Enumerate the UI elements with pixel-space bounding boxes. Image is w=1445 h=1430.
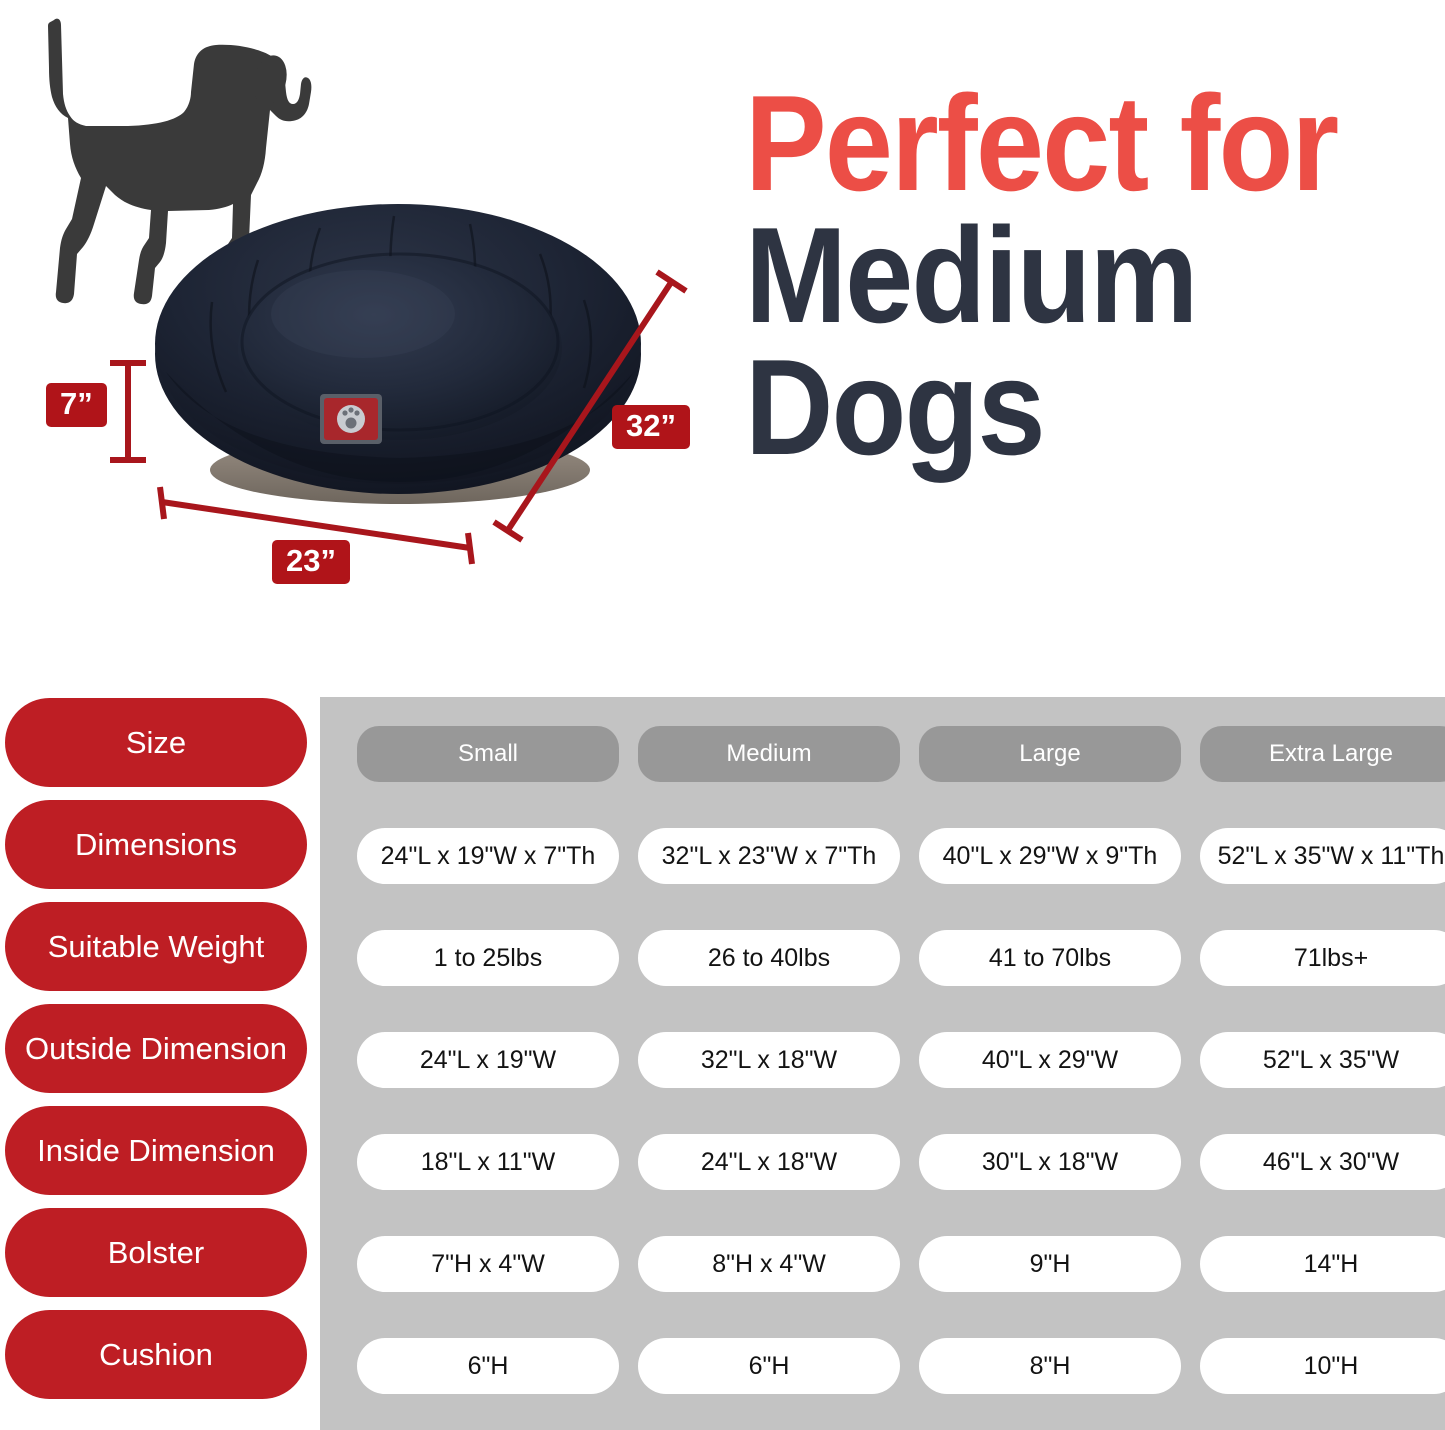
cell-suitable-weight-extra-large: 71lbs+ — [1200, 930, 1445, 986]
headline-line-2: Medium — [745, 210, 1375, 342]
dog-bed-photo — [148, 182, 648, 512]
cell-inside-dimension-medium: 24"L x 18"W — [638, 1134, 900, 1190]
page-title: Perfect for Medium Dogs — [745, 78, 1445, 474]
column-header-small: Small — [357, 726, 619, 782]
row-label-size: Size — [5, 698, 307, 787]
column-header-extra-large: Extra Large — [1200, 726, 1445, 782]
cell-cushion-large: 8"H — [919, 1338, 1181, 1394]
column-header-large: Large — [919, 726, 1181, 782]
cell-dimensions-extra-large: 52"L x 35"W x 11"Th — [1200, 828, 1445, 884]
row-label-bolster: Bolster — [5, 1208, 307, 1297]
cell-dimensions-large: 40"L x 29"W x 9"Th — [919, 828, 1181, 884]
cell-inside-dimension-small: 18"L x 11"W — [357, 1134, 619, 1190]
row-label-suitable-weight: Suitable Weight — [5, 902, 307, 991]
cell-outside-dimension-extra-large: 52"L x 35"W — [1200, 1032, 1445, 1088]
specification-table: SizeDimensionsSuitable WeightOutside Dim… — [0, 690, 1445, 1430]
hero-section: 7” 32” 23” Perfect for Medium Dogs — [0, 0, 1445, 690]
headline-line-1: Perfect for — [745, 78, 1375, 210]
cell-suitable-weight-small: 1 to 25lbs — [357, 930, 619, 986]
cell-suitable-weight-large: 41 to 70lbs — [919, 930, 1181, 986]
cell-cushion-small: 6"H — [357, 1338, 619, 1394]
cell-outside-dimension-medium: 32"L x 18"W — [638, 1032, 900, 1088]
row-label-outside-dimension: Outside Dimension — [5, 1004, 307, 1093]
cell-dimensions-medium: 32"L x 23"W x 7"Th — [638, 828, 900, 884]
cell-bolster-small: 7"H x 4"W — [357, 1236, 619, 1292]
cell-suitable-weight-medium: 26 to 40lbs — [638, 930, 900, 986]
row-label-dimensions: Dimensions — [5, 800, 307, 889]
cell-cushion-extra-large: 10"H — [1200, 1338, 1445, 1394]
cell-bolster-large: 9"H — [919, 1236, 1181, 1292]
row-label-cushion: Cushion — [5, 1310, 307, 1399]
column-header-medium: Medium — [638, 726, 900, 782]
cell-outside-dimension-small: 24"L x 19"W — [357, 1032, 619, 1088]
cell-inside-dimension-large: 30"L x 18"W — [919, 1134, 1181, 1190]
callout-width: 23” — [272, 540, 350, 584]
row-label-inside-dimension: Inside Dimension — [5, 1106, 307, 1195]
callout-length: 32” — [612, 405, 690, 449]
cell-bolster-extra-large: 14"H — [1200, 1236, 1445, 1292]
cell-cushion-medium: 6"H — [638, 1338, 900, 1394]
brand-label — [320, 394, 382, 444]
callout-height: 7” — [46, 383, 107, 427]
cell-dimensions-small: 24"L x 19"W x 7"Th — [357, 828, 619, 884]
cell-bolster-medium: 8"H x 4"W — [638, 1236, 900, 1292]
cell-inside-dimension-extra-large: 46"L x 30"W — [1200, 1134, 1445, 1190]
cell-outside-dimension-large: 40"L x 29"W — [919, 1032, 1181, 1088]
headline-line-3: Dogs — [745, 342, 1375, 474]
